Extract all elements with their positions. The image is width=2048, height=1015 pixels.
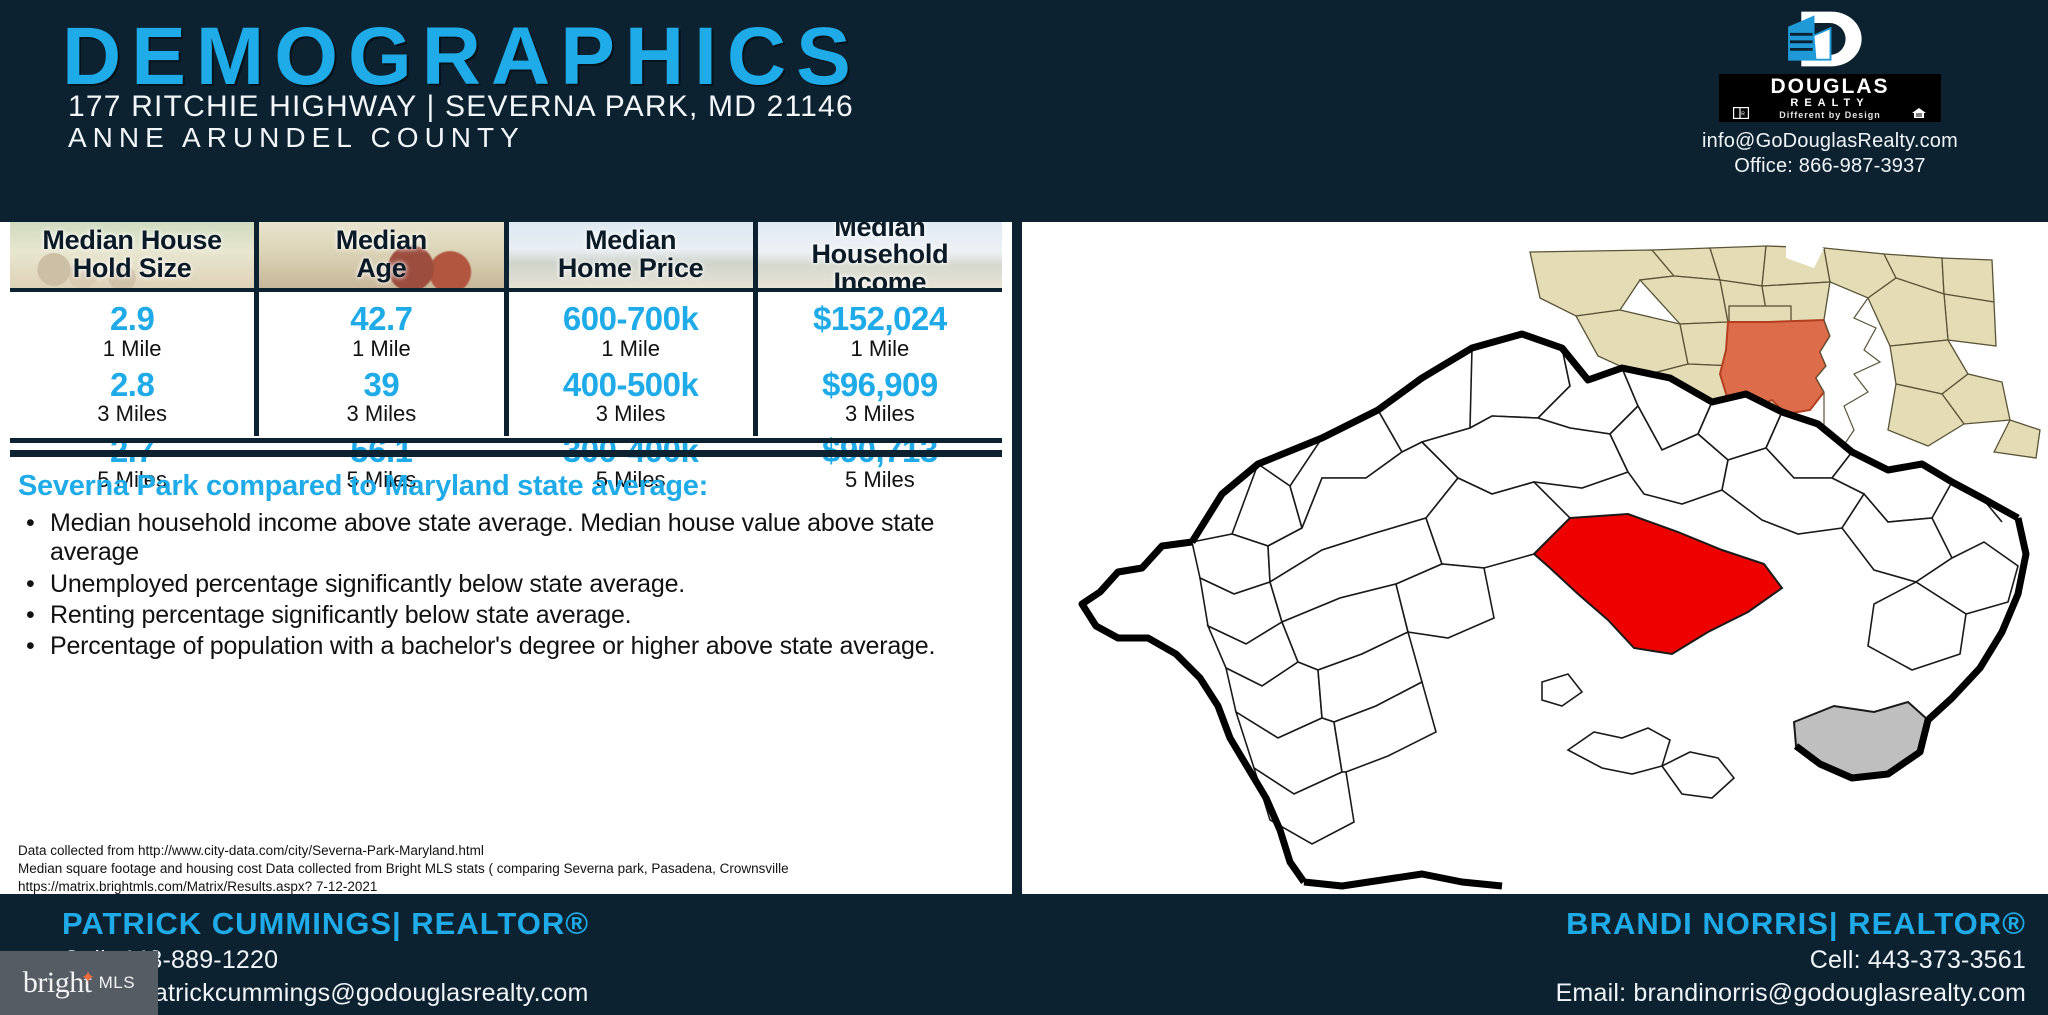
douglas-d-building-icon [1773, 6, 1886, 72]
stat-radius: 3 Miles [10, 402, 254, 426]
bullet-glyph: • [26, 601, 35, 630]
stat-header-line-1: Median House [42, 227, 221, 255]
footnote-line-2: Median square footage and housing cost D… [18, 860, 978, 878]
bullet-glyph: • [26, 570, 35, 599]
stat-header-line-3: Income [811, 269, 948, 292]
agent-name: BRANDI NORRIS| REALTOR® [1556, 906, 2026, 942]
address-line-2: ANNE ARUNDEL COUNTY [68, 122, 525, 154]
list-item-text: Median household income above state aver… [50, 509, 934, 566]
stat-radius: 3 Miles [259, 402, 503, 426]
stat-value: 400-500k [509, 368, 753, 403]
stat-value: 600-700k [509, 302, 753, 337]
stat-radius: 1 Mile [10, 337, 254, 361]
agent-name: PATRICK CUMMINGS| REALTOR® [62, 906, 589, 942]
bright-star-icon: ✦ [81, 968, 95, 988]
brand-subname: REALTY [1719, 97, 1941, 109]
header-band: DEMOGRAPHICS 177 RITCHIE HIGHWAY | SEVER… [0, 0, 2048, 222]
stat-header-line-1: Median [336, 227, 427, 255]
stats-and-summary-panel: Median House Hold Size 2.9 1 Mile 2.8 3 … [0, 222, 1012, 894]
company-phone[interactable]: Office: 866-987-3937 [1620, 155, 2040, 178]
stat-header-line-1: Median [558, 227, 704, 255]
divider-rule-bottom [10, 450, 1002, 457]
stat-header: Median Household Income [758, 222, 1002, 292]
stat-header-label: Median Age [336, 227, 427, 282]
stats-table: Median House Hold Size 2.9 1 Mile 2.8 3 … [10, 222, 1002, 436]
bullet-glyph: • [26, 509, 35, 538]
stat-row: $152,024 1 Mile [758, 302, 1002, 361]
divider-rule-top [10, 438, 1002, 443]
demographics-flyer: DEMOGRAPHICS 177 RITCHIE HIGHWAY | SEVER… [0, 0, 2048, 1015]
stat-column-median-home-price: Median Home Price 600-700k 1 Mile 400-50… [509, 222, 758, 436]
annapolis-district-highlight [1794, 702, 1928, 778]
stat-header-label: Median Household Income [811, 222, 948, 292]
agent-card-right: BRANDI NORRIS| REALTOR® Cell: 443-373-35… [1556, 906, 2026, 1008]
stat-row: 2.8 3 Miles [10, 368, 254, 427]
stat-value: $152,024 [758, 302, 1002, 337]
list-item: •Median household income above state ave… [18, 509, 998, 568]
bullet-glyph: • [26, 632, 35, 661]
stat-header-line-2: Home Price [558, 255, 704, 283]
agent-cell[interactable]: Cell: 443-373-3561 [1556, 946, 2026, 975]
brand-name: DOUGLAS [1719, 75, 1941, 99]
stat-row: 2.9 1 Mile [10, 302, 254, 361]
list-item-text: Percentage of population with a bachelor… [50, 632, 935, 660]
list-item: •Renting percentage significantly below … [18, 601, 998, 630]
stat-row: 42.7 1 Mile [259, 302, 503, 361]
data-source-footnotes: Data collected from http://www.city-data… [18, 842, 978, 897]
stat-value: 2.9 [10, 302, 254, 337]
address-line-1: 177 RITCHIE HIGHWAY | SEVERNA PARK, MD 2… [68, 90, 854, 124]
stat-header-label: Median House Hold Size [42, 227, 221, 282]
equal-housing-icon [1911, 107, 1927, 119]
stat-header: Median House Hold Size [10, 222, 254, 292]
stat-column-median-household-income: Median Household Income $152,024 1 Mile … [758, 222, 1002, 436]
stat-value: 39 [259, 368, 503, 403]
stat-radius: 3 Miles [509, 402, 753, 426]
comparison-list: •Median household income above state ave… [18, 509, 998, 661]
list-item-text: Renting percentage significantly below s… [50, 601, 631, 629]
stat-row: 39 3 Miles [259, 368, 503, 427]
stat-row: 400-500k 3 Miles [509, 368, 753, 427]
list-item: •Unemployed percentage significantly bel… [18, 570, 998, 599]
anne-arundel-county-districts-map [1022, 282, 2048, 894]
brand-tagline: Different by Design [1719, 110, 1941, 120]
bright-mls-watermark: bright✦ MLS [0, 951, 158, 1015]
stat-radius: 1 Mile [509, 337, 753, 361]
stat-values: $152,024 1 Mile $96,909 3 Miles $90,713 … [758, 292, 1002, 492]
stat-values: 42.7 1 Mile 39 3 Miles 56.1 5 Miles [259, 292, 503, 492]
brand-logo-block: DOUGLAS REALTY R Different by Design inf… [1620, 6, 2040, 178]
footnote-line-1: Data collected from http://www.city-data… [18, 842, 978, 860]
stat-value: 2.8 [10, 368, 254, 403]
stat-values: 2.9 1 Mile 2.8 3 Miles 2.7 5 Miles [10, 292, 254, 492]
stat-value: 42.7 [259, 302, 503, 337]
stat-value: $96,909 [758, 368, 1002, 403]
stat-row: 600-700k 1 Mile [509, 302, 753, 361]
stat-header-line-2: Household [811, 241, 948, 269]
stat-header: Median Home Price [509, 222, 753, 292]
footer-band: PATRICK CUMMINGS| REALTOR® Cell: 443-889… [0, 894, 2048, 1015]
stat-radius: 1 Mile [259, 337, 503, 361]
list-item-text: Unemployed percentage significantly belo… [50, 570, 685, 598]
map-panel [1022, 222, 2048, 894]
stat-header-line-2: Age [336, 255, 427, 283]
stat-column-median-age: Median Age 42.7 1 Mile 39 3 Miles 56.1 [259, 222, 508, 436]
bright-mls-wordmark: bright✦ [23, 966, 92, 1000]
list-item: •Percentage of population with a bachelo… [18, 632, 998, 661]
agent-email[interactable]: Email: brandinorris@godouglasrealty.com [1556, 979, 2026, 1008]
company-email[interactable]: info@GoDouglasRealty.com [1620, 130, 2040, 153]
mls-label: MLS [99, 973, 135, 993]
stat-header: Median Age [259, 222, 503, 292]
comparison-title: Severna Park compared to Maryland state … [18, 470, 998, 503]
stat-row: $96,909 3 Miles [758, 368, 1002, 427]
stat-radius: 3 Miles [758, 402, 1002, 426]
stat-values: 600-700k 1 Mile 400-500k 3 Miles 300-400… [509, 292, 753, 492]
severna-park-district-highlight [1534, 514, 1782, 654]
stat-header-label: Median Home Price [558, 227, 704, 282]
stat-radius: 1 Mile [758, 337, 1002, 361]
stat-column-median-household-size: Median House Hold Size 2.9 1 Mile 2.8 3 … [10, 222, 259, 436]
brand-plate: DOUGLAS REALTY R Different by Design [1719, 74, 1941, 122]
stat-header-line-2: Hold Size [42, 255, 221, 283]
comparison-block: Severna Park compared to Maryland state … [18, 470, 998, 663]
